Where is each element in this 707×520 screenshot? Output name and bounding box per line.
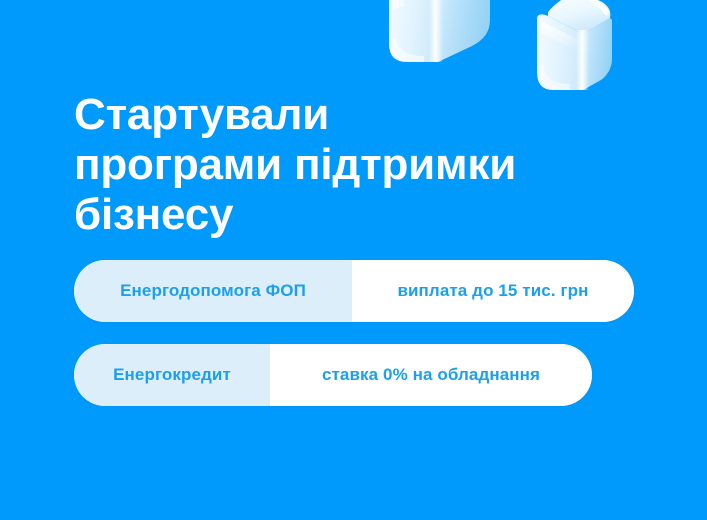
glossy-cube-left bbox=[389, 0, 490, 62]
glossy-cube-right bbox=[537, 0, 612, 90]
benefit-value-energy-credit: ставка 0% на обладнання bbox=[270, 344, 592, 406]
benefit-row-energy-aid-fop: Енергодопомога ФОП виплата до 15 тис. гр… bbox=[74, 260, 634, 322]
benefit-label-energy-aid-fop: Енергодопомога ФОП bbox=[74, 260, 352, 322]
page-title: Стартували програми підтримки бізнесу bbox=[74, 90, 594, 240]
benefit-row-energy-credit: Енергокредит ставка 0% на обладнання bbox=[74, 344, 592, 406]
promo-banner: Стартували програми підтримки бізнесу Ен… bbox=[0, 0, 707, 520]
benefit-label-energy-credit: Енергокредит bbox=[74, 344, 270, 406]
benefit-value-energy-aid-fop: виплата до 15 тис. грн bbox=[352, 260, 634, 322]
